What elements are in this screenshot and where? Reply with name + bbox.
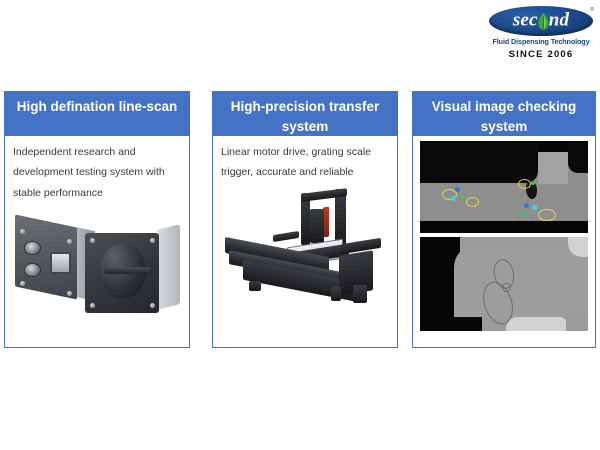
feature-card-transfer-system: High-precision transfer system Linear mo… [212, 91, 398, 348]
card-description-transfer-system: Linear motor drive, grating scale trigge… [213, 136, 397, 183]
machine-vision-inspection-photo [420, 141, 588, 233]
feature-card-line-scan: High defination line-scan Independent re… [4, 91, 190, 348]
vision-dark-part [420, 141, 538, 183]
vision2-highlight-bottom [506, 317, 566, 331]
company-logo: ® secnd Fluid Dispensing Technology SINC… [487, 6, 595, 64]
card-title-line-scan: High defination line-scan [4, 91, 190, 136]
logo-wordmark: secnd [489, 10, 593, 32]
camera-front-side-panel [157, 225, 180, 311]
annotation-ellipse [466, 197, 479, 207]
leaf-droplet-icon [538, 13, 549, 31]
vision2-part-body [454, 245, 588, 317]
annotation-ellipse [538, 209, 556, 221]
annotation-dot [460, 195, 464, 199]
vision2-feature-dot [502, 283, 511, 292]
annotation-ellipse [518, 179, 531, 189]
annotation-dot [451, 196, 456, 201]
logo-word-before: sec [513, 10, 538, 31]
annotation-dot [521, 211, 526, 216]
logo-word-after: nd [549, 10, 569, 31]
logo-ellipse: ® secnd [489, 6, 593, 36]
stage-mid-foot [331, 287, 341, 301]
vision-bottom-band [420, 221, 588, 233]
stage-cross-arm [273, 231, 299, 242]
camera-lens-slot [104, 267, 150, 274]
vision-gray-gap [538, 152, 568, 184]
card-description-line-scan: Independent research and development tes… [5, 136, 189, 203]
stage-head-block [310, 209, 324, 243]
vision-dark-part-right [568, 141, 588, 173]
card-title-visual-checking: Visual image checking system [412, 91, 596, 136]
card-body-visual-checking [412, 136, 596, 348]
card-body-transfer-system: Linear motor drive, grating scale trigge… [212, 136, 398, 348]
stage-right-foot [353, 285, 367, 303]
annotation-dot [524, 203, 529, 208]
card-body-line-scan: Independent research and development tes… [4, 136, 190, 348]
logo-tagline: Fluid Dispensing Technology [487, 37, 595, 46]
annotation-dot [531, 181, 535, 185]
logo-since-text: SINCE 2006 [487, 49, 595, 60]
linear-motor-transfer-stage-photo [213, 185, 398, 325]
stage-left-foot [249, 281, 261, 291]
annotation-dot [532, 205, 537, 210]
camera-data-port [50, 252, 71, 274]
annotation-dot [455, 187, 460, 192]
line-scan-camera-photo [5, 207, 190, 325]
card-title-transfer-system: High-precision transfer system [212, 91, 398, 136]
feature-card-visual-checking: Visual image checking system [412, 91, 596, 348]
machine-vision-inspection-photo-2 [420, 237, 588, 331]
